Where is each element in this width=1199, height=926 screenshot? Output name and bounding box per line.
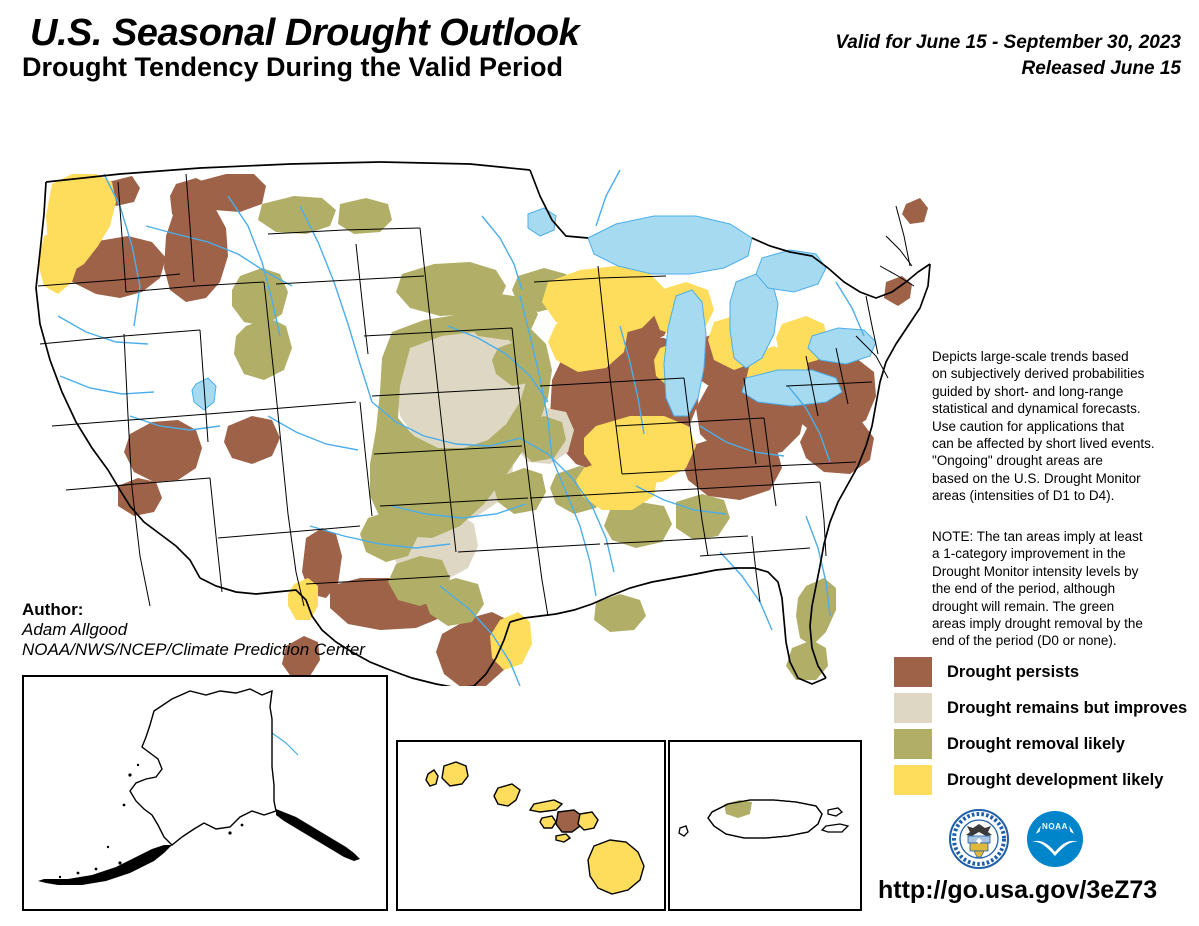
- legend-swatch-improves: [894, 693, 932, 723]
- author-label: Author:: [22, 600, 365, 620]
- note-line: a 1-category improvement in the: [932, 545, 1194, 562]
- alaska-outline: [130, 689, 276, 845]
- description-line: Use caution for applications that: [932, 418, 1194, 435]
- page-header: U.S. Seasonal Drought Outlook Drought Te…: [0, 0, 1199, 88]
- legend-swatch-persists: [894, 657, 932, 687]
- description-text: Depicts large-scale trends based on subj…: [932, 348, 1194, 505]
- valid-period-text: Valid for June 15 - September 30, 2023: [835, 32, 1181, 54]
- inset-map-puerto-rico: [668, 740, 862, 911]
- svg-text:NOAA: NOAA: [1042, 822, 1068, 831]
- author-block: Author: Adam Allgood NOAA/NWS/NCEP/Clima…: [22, 600, 365, 660]
- description-line: "Ongoing" drought areas are: [932, 452, 1194, 469]
- legend-swatch-removal: [894, 729, 932, 759]
- hawaii-islands: [426, 762, 644, 894]
- legend-label-persists: Drought persists: [947, 663, 1079, 682]
- description-line: on subjectively derived probabilities: [932, 365, 1194, 382]
- note-line: Drought Monitor intensity levels by: [932, 563, 1194, 580]
- legend-label-removal: Drought removal likely: [947, 735, 1125, 754]
- description-line: can be affected by short lived events.: [932, 435, 1194, 452]
- inset-map-hawaii: [396, 740, 666, 911]
- description-line: areas (intensities of D1 to D4).: [932, 487, 1194, 504]
- legend-label-development: Drought development likely: [947, 771, 1163, 790]
- map-legend: Drought persists Drought remains but imp…: [894, 655, 1194, 799]
- note-line: areas imply drought removal by the: [932, 615, 1194, 632]
- note-line: end of the period (D0 or none).: [932, 632, 1194, 649]
- note-line: NOTE: The tan areas imply at least: [932, 528, 1194, 545]
- page-subtitle: Drought Tendency During the Valid Period: [22, 52, 563, 83]
- legend-item-removal: Drought removal likely: [894, 727, 1194, 761]
- puerto-rico-islands: [679, 800, 848, 838]
- author-name: Adam Allgood: [22, 620, 365, 640]
- author-affiliation: NOAA/NWS/NCEP/Climate Prediction Center: [22, 640, 365, 660]
- legend-item-development: Drought development likely: [894, 763, 1194, 797]
- inset-map-alaska: [22, 675, 388, 911]
- note-line: drought will remain. The green: [932, 598, 1194, 615]
- released-date-text: Released June 15: [1022, 58, 1181, 80]
- page-title: U.S. Seasonal Drought Outlook: [30, 12, 579, 55]
- agency-logos: NOAA: [948, 808, 1128, 870]
- description-line: guided by short- and long-range: [932, 383, 1194, 400]
- note-text: NOTE: The tan areas imply at least a 1-c…: [932, 528, 1194, 650]
- cpc-url[interactable]: http://go.usa.gov/3eZ73: [878, 876, 1157, 905]
- description-line: based on the U.S. Drought Monitor: [932, 470, 1194, 487]
- noaa-logo-icon: NOAA: [1024, 808, 1086, 870]
- note-line: the end of the period, although: [932, 580, 1194, 597]
- description-line: Depicts large-scale trends based: [932, 348, 1194, 365]
- legend-label-improves: Drought remains but improves: [947, 699, 1187, 718]
- conus-map: [0, 86, 940, 686]
- department-of-commerce-seal-icon: [948, 808, 1010, 870]
- legend-swatch-development: [894, 765, 932, 795]
- legend-item-persists: Drought persists: [894, 655, 1194, 689]
- legend-item-improves: Drought remains but improves: [894, 691, 1194, 725]
- description-line: statistical and dynamical forecasts.: [932, 400, 1194, 417]
